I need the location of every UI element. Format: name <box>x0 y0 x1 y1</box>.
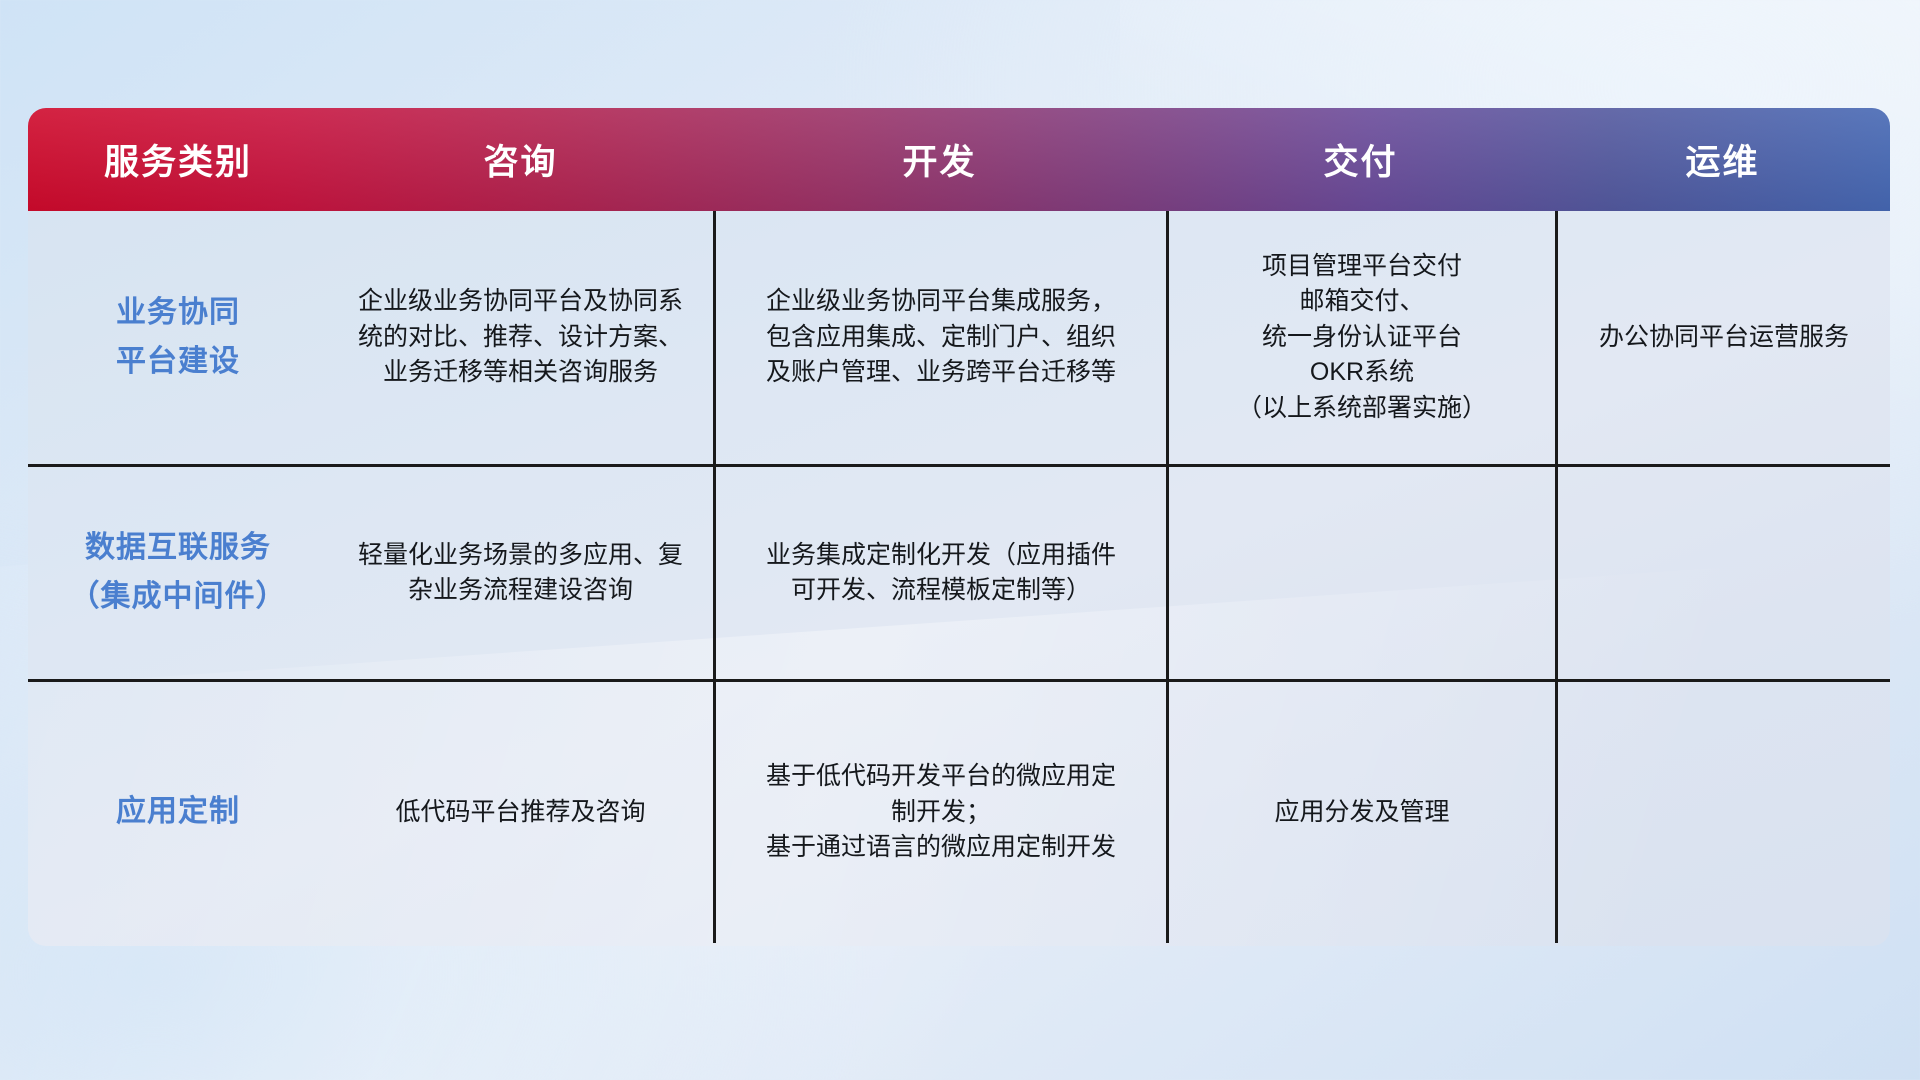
cell-development: 业务集成定制化开发（应用插件 可开发、流程模板定制等） <box>713 467 1166 679</box>
table-row: 应用定制 低代码平台推荐及咨询 基于低代码开发平台的微应用定 制开发； 基于通过… <box>28 679 1890 943</box>
cell-delivery: 项目管理平台交付 邮箱交付、 统一身份认证平台 OKR系统 （以上系统部署实施） <box>1166 211 1555 464</box>
table-body: 业务协同 平台建设 企业级业务协同平台及协同系 统的对比、推荐、设计方案、 业务… <box>28 211 1890 946</box>
cell-consulting: 企业级业务协同平台及协同系 统的对比、推荐、设计方案、 业务迁移等相关咨询服务 <box>328 211 713 464</box>
cell-delivery: 应用分发及管理 <box>1166 682 1555 943</box>
cell-operations: 办公协同平台运营服务 <box>1555 211 1890 464</box>
service-matrix-table: 服务类别 咨询 开发 交付 运维 业务协同 平台建设 企业级业务协同平台及协同系… <box>28 108 1890 946</box>
cell-delivery <box>1166 467 1555 679</box>
cell-consulting: 轻量化业务场景的多应用、复 杂业务流程建设咨询 <box>328 467 713 679</box>
column-header-consulting: 咨询 <box>328 134 713 185</box>
cell-consulting: 低代码平台推荐及咨询 <box>328 682 713 943</box>
column-header-delivery: 交付 <box>1166 134 1555 185</box>
row-category-label: 应用定制 <box>28 682 328 943</box>
column-header-development: 开发 <box>713 134 1166 185</box>
column-header-service-category: 服务类别 <box>28 134 328 185</box>
table-row: 业务协同 平台建设 企业级业务协同平台及协同系 统的对比、推荐、设计方案、 业务… <box>28 211 1890 464</box>
table-row: 数据互联服务 （集成中间件） 轻量化业务场景的多应用、复 杂业务流程建设咨询 业… <box>28 464 1890 679</box>
row-category-label: 业务协同 平台建设 <box>28 211 328 464</box>
table-header-row: 服务类别 咨询 开发 交付 运维 <box>28 108 1890 211</box>
column-header-operations: 运维 <box>1555 134 1890 185</box>
cell-development: 企业级业务协同平台集成服务， 包含应用集成、定制门户、组织 及账户管理、业务跨平… <box>713 211 1166 464</box>
cell-development: 基于低代码开发平台的微应用定 制开发； 基于通过语言的微应用定制开发 <box>713 682 1166 943</box>
cell-operations <box>1555 682 1890 943</box>
cell-operations <box>1555 467 1890 679</box>
row-category-label: 数据互联服务 （集成中间件） <box>28 467 328 679</box>
